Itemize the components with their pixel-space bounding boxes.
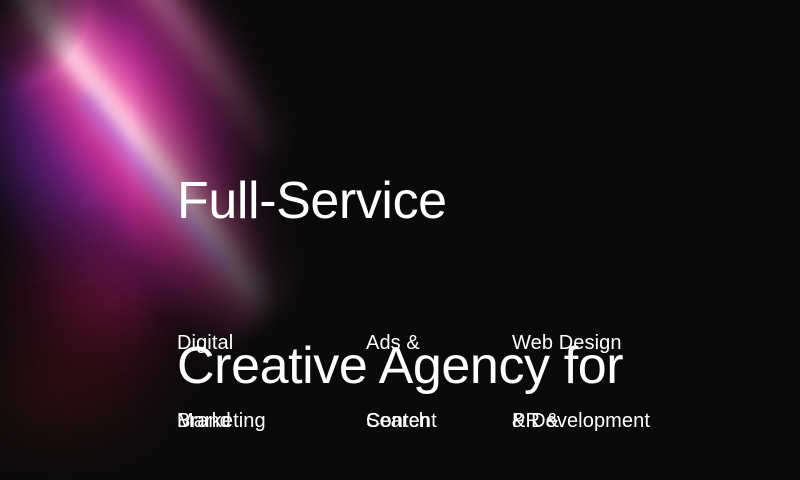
services-row: Brand Development Content Creation PR & …	[177, 356, 777, 434]
service-label-line: Brand	[177, 408, 296, 434]
slide-content: Full-Service Creative Agency for Ambitio…	[177, 0, 777, 480]
slide-canvas: Full-Service Creative Agency for Ambitio…	[0, 0, 800, 480]
services-row: Digital Marketing Ads & Search Web Desig…	[177, 278, 777, 356]
service-label-line: PR &	[512, 408, 581, 434]
headline-line-1: Full-Service	[177, 174, 623, 229]
service-label-line: Web Design	[512, 330, 650, 356]
service-item-pr-comms[interactable]: PR & Comms	[512, 356, 581, 480]
services-grid: Digital Marketing Ads & Search Web Desig…	[177, 278, 777, 434]
service-item-content-creation[interactable]: Content Creation	[366, 356, 442, 480]
service-label-line: Digital	[177, 330, 266, 356]
service-label-line: Ads &	[366, 330, 430, 356]
service-item-brand-development[interactable]: Brand Development	[177, 356, 296, 480]
service-label-line: Content	[366, 408, 442, 434]
